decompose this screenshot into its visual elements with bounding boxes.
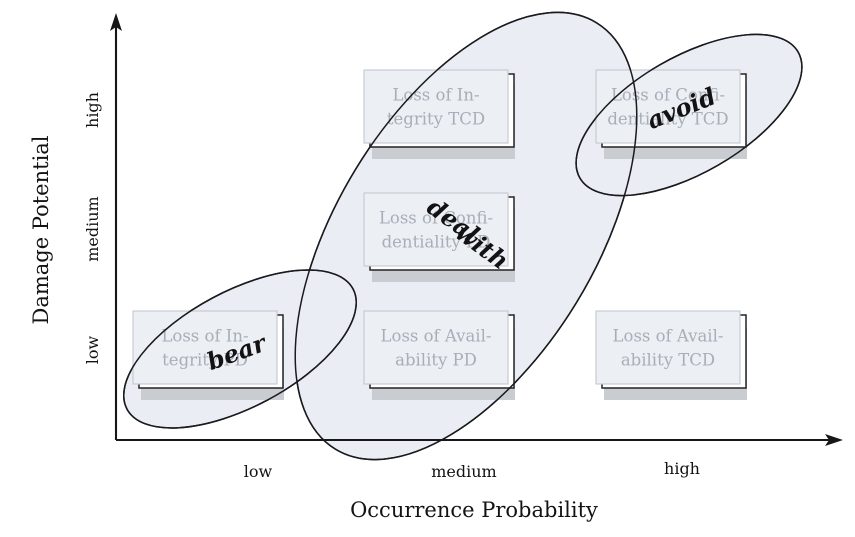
diagram-canvas: Loss of In- tegrity TCD Loss of Confi- d…: [0, 0, 855, 537]
card-integrity-tcd[interactable]: Loss of In- tegrity TCD: [364, 70, 515, 159]
x-axis-title: Occurrence Probability: [350, 498, 598, 522]
x-tick-low: low: [244, 462, 273, 481]
risk-matrix-diagram: Loss of In- tegrity TCD Loss of Confi- d…: [0, 0, 855, 537]
card-label-line2: ability PD: [395, 351, 477, 370]
card-label-line1: Loss of Avail-: [381, 327, 492, 346]
x-tick-medium: medium: [431, 462, 496, 481]
card-face: [364, 311, 508, 384]
axis-x: [116, 434, 843, 446]
y-axis-title: Damage Potential: [29, 135, 53, 324]
card-face: [364, 70, 508, 143]
card-availability-tcd[interactable]: Loss of Avail- ability TCD: [596, 311, 747, 400]
y-tick-medium: medium: [83, 196, 102, 261]
y-tick-low: low: [83, 335, 102, 364]
x-tick-high: high: [664, 459, 700, 478]
card-label-line2: tegrity TCD: [387, 110, 485, 129]
card-face: [596, 311, 740, 384]
card-label-line1: Loss of Avail-: [613, 327, 724, 346]
y-tick-high: high: [83, 92, 102, 128]
axis-y: [110, 13, 122, 440]
card-availability-pd[interactable]: Loss of Avail- ability PD: [364, 311, 515, 400]
card-label-line2: ability TCD: [621, 351, 715, 370]
